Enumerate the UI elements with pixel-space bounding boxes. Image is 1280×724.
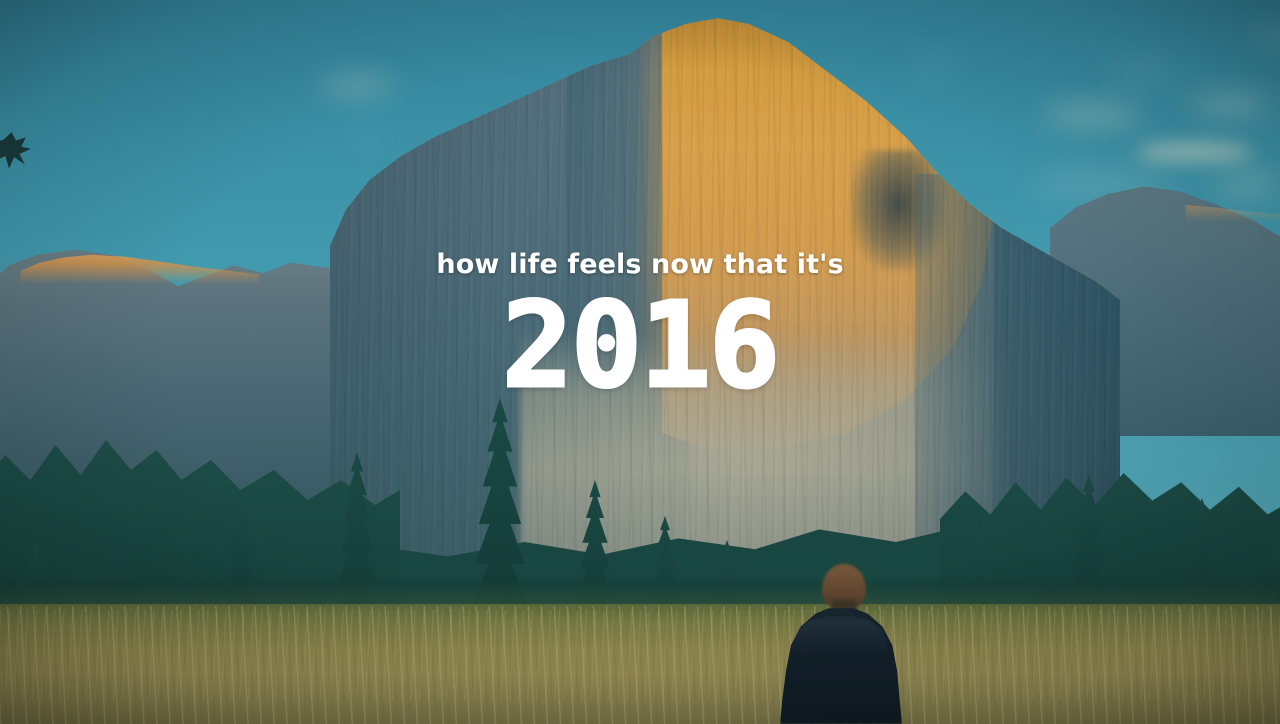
cloud-8 [1216,176,1280,190]
cloud-1 [320,78,394,93]
cloud-3 [1044,106,1140,124]
cloud-6 [1190,96,1272,112]
grass-blades-far [0,610,1280,700]
cloud-4 [1108,66,1168,79]
video-frame: how life feels now that it's 2016 [0,0,1280,724]
cloud-2 [352,136,386,145]
person-shoulder-highlight [786,616,894,656]
cloud-9 [912,58,958,68]
cloud-5 [1136,142,1254,162]
person-silhouette [770,564,910,724]
